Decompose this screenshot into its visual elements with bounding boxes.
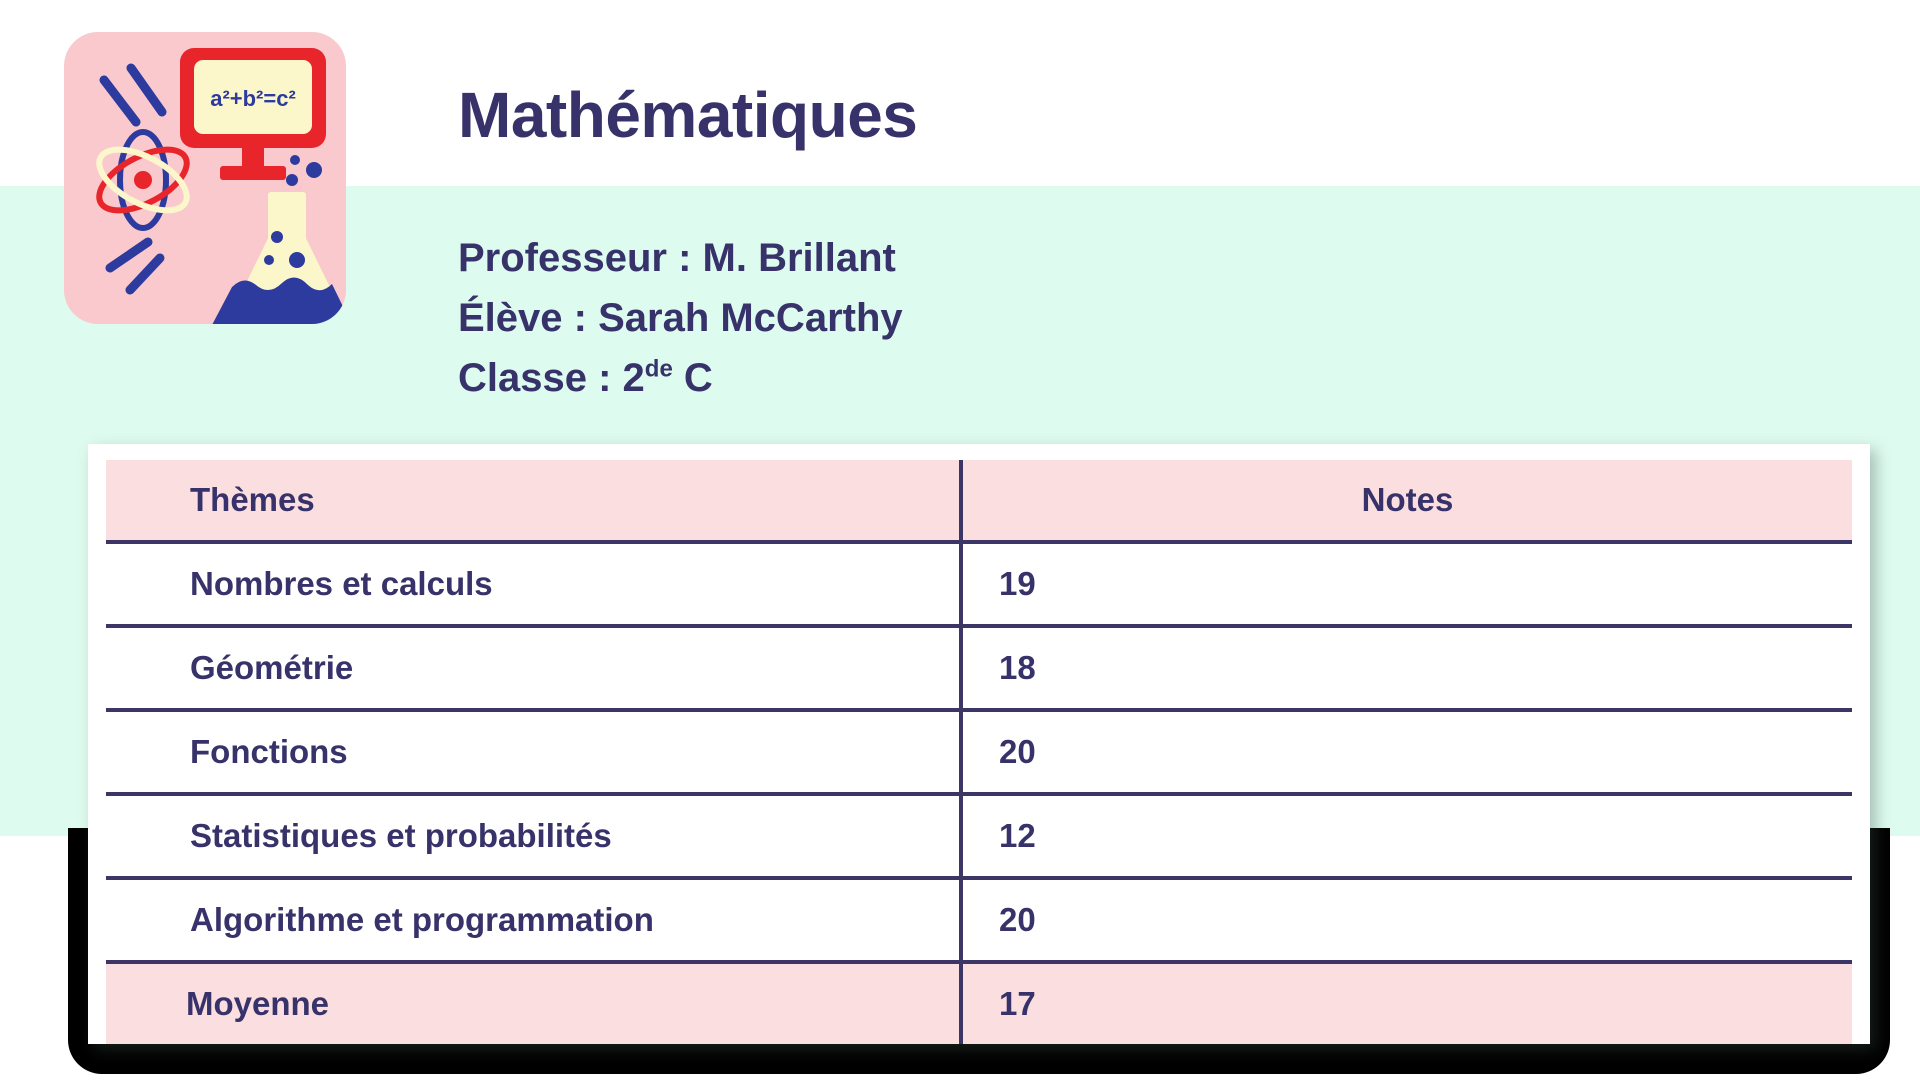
class-ordinal-suffix: de bbox=[645, 356, 673, 383]
cell-note: 20 bbox=[961, 878, 1852, 962]
table-row: Statistiques et probabilités 12 bbox=[106, 794, 1852, 878]
class-label: Classe : 2 bbox=[458, 356, 645, 400]
cell-note: 20 bbox=[961, 710, 1852, 794]
table-row: Fonctions 20 bbox=[106, 710, 1852, 794]
grades-table: Thèmes Notes Nombres et calculs 19 Géomé… bbox=[106, 460, 1852, 1044]
student-line: Élève : Sarah McCarthy bbox=[458, 288, 903, 348]
table-row: Géométrie 18 bbox=[106, 626, 1852, 710]
cell-average-note: 17 bbox=[961, 962, 1852, 1044]
grades-table-card: Thèmes Notes Nombres et calculs 19 Géomé… bbox=[88, 444, 1870, 1044]
table-row-average: Moyenne 17 bbox=[106, 962, 1852, 1044]
math-science-illustration-icon: a²+b²=c² bbox=[64, 32, 346, 324]
class-section: C bbox=[673, 356, 713, 400]
table-row: Nombres et calculs 19 bbox=[106, 542, 1852, 626]
cell-note: 12 bbox=[961, 794, 1852, 878]
page-title: Mathématiques bbox=[458, 78, 917, 152]
table-row: Algorithme et programmation 20 bbox=[106, 878, 1852, 962]
column-header-themes: Thèmes bbox=[106, 460, 961, 542]
cell-theme: Algorithme et programmation bbox=[106, 878, 961, 962]
monitor-shape: a²+b²=c² bbox=[180, 48, 326, 180]
table-body: Nombres et calculs 19 Géométrie 18 Fonct… bbox=[106, 542, 1852, 1044]
subject-illustration-tile: a²+b²=c² bbox=[64, 32, 346, 324]
table-header-row: Thèmes Notes bbox=[106, 460, 1852, 542]
cell-theme: Statistiques et probabilités bbox=[106, 794, 961, 878]
class-line: Classe : 2de C bbox=[458, 348, 903, 408]
cell-note: 18 bbox=[961, 626, 1852, 710]
teacher-line: Professeur : M. Brillant bbox=[458, 228, 903, 288]
cell-theme: Nombres et calculs bbox=[106, 542, 961, 626]
cell-theme: Géométrie bbox=[106, 626, 961, 710]
column-header-notes: Notes bbox=[961, 460, 1852, 542]
bubbles-shape bbox=[286, 155, 322, 186]
cell-theme: Fonctions bbox=[106, 710, 961, 794]
flask-shape bbox=[211, 195, 346, 324]
course-meta-block: Professeur : M. Brillant Élève : Sarah M… bbox=[458, 228, 903, 408]
cell-note: 19 bbox=[961, 542, 1852, 626]
svg-text:a²+b²=c²: a²+b²=c² bbox=[210, 86, 296, 111]
atom-shape bbox=[90, 132, 196, 228]
cell-average-label: Moyenne bbox=[106, 962, 961, 1044]
